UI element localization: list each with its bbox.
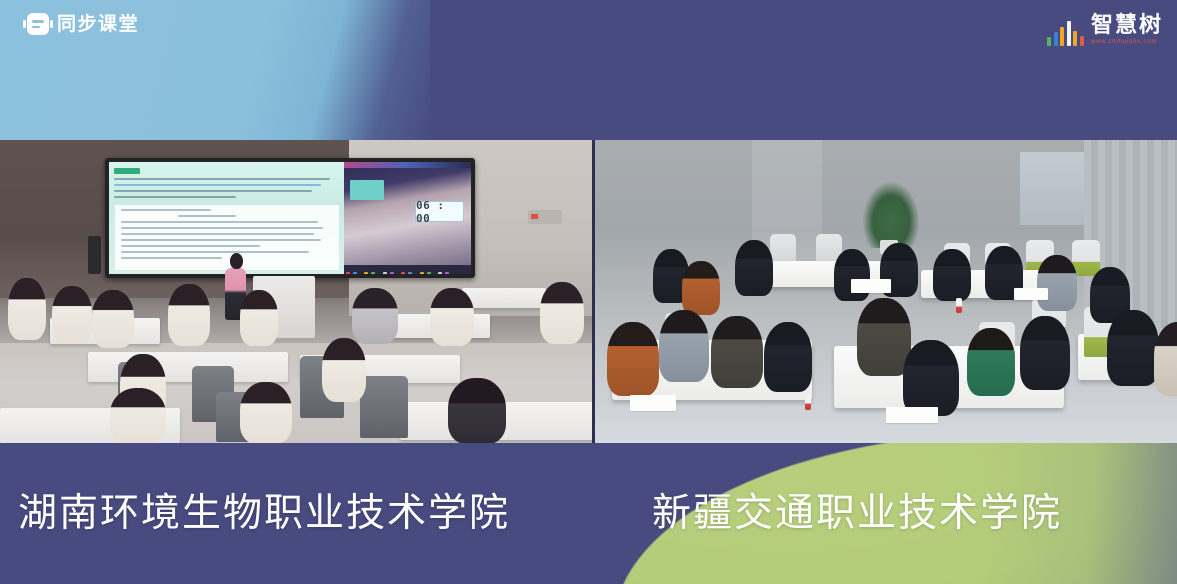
board-countdown-timer: 06 : 00 [415,201,464,222]
caption-row: 湖南环境生物职业技术学院 新疆交通职业技术学院 [0,443,1177,584]
zhihuishu-label: 智慧树 [1091,14,1163,36]
caption-left-label: 湖南环境生物职业技术学院 [18,494,510,533]
caption-left: 湖南环境生物职业技术学院 [0,443,600,584]
wall-speaker [88,236,101,274]
brand-zhihuishu[interactable]: 智慧树 www.zhihuishu.com [1047,14,1163,46]
brand-sync-classroom-label: 同步课堂 [57,15,139,34]
wall-device [528,210,562,224]
potted-plant [863,182,919,248]
video-pane-left[interactable]: 06 : 00 [0,140,592,443]
presentation-stage: 同步课堂 智慧树 www.zhihuishu.com [0,0,1177,584]
brand-sync-classroom[interactable]: 同步课堂 [27,13,139,35]
board-document-area [109,162,344,274]
classroom-display-board: 06 : 00 [105,158,475,278]
header-bar: 同步课堂 智慧树 www.zhihuishu.com [0,0,1177,62]
dual-video-band: 06 : 00 [0,140,1177,443]
book-logo-icon [27,13,49,35]
bar-chart-logo-icon [1047,20,1084,46]
zhihuishu-wordmark: 智慧树 www.zhihuishu.com [1091,14,1163,45]
caption-right: 新疆交通职业技术学院 [600,443,1177,584]
zhihuishu-url: www.zhihuishu.com [1091,39,1157,45]
video-pane-right[interactable]: 学生分组讨论课堂 [595,140,1177,443]
teacher-head [230,253,243,269]
caption-right-label: 新疆交通职业技术学院 [652,494,1062,533]
